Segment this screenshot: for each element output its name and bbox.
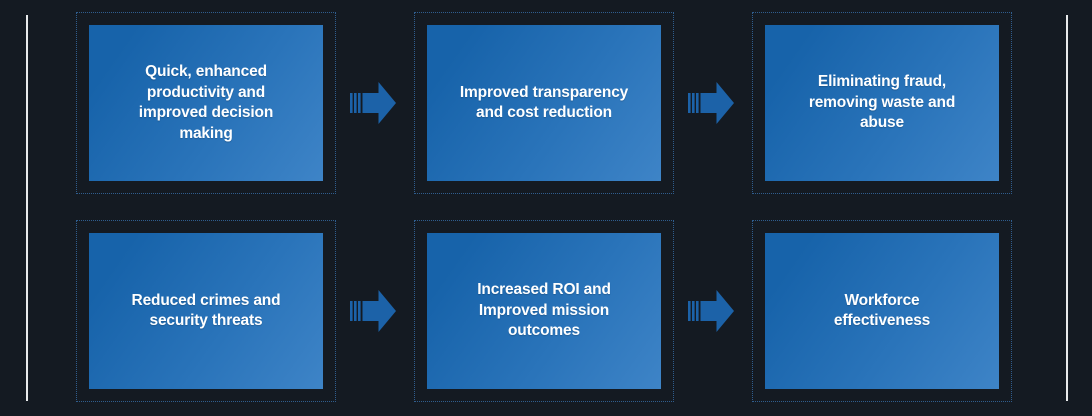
node-3-label: Eliminating fraud, removing waste and ab… (797, 72, 967, 134)
flow-grid: Quick, enhanced productivity and improve… (0, 0, 1092, 416)
arrow-right-icon (688, 82, 734, 124)
flow-node-2[interactable]: Improved transparency and cost reduction (414, 12, 674, 194)
flow-node-3[interactable]: Eliminating fraud, removing waste and ab… (752, 12, 1012, 194)
node-2-card[interactable]: Improved transparency and cost reduction (427, 25, 661, 181)
node-2-label: Improved transparency and cost reduction (448, 83, 640, 124)
connector-arrow-3 (350, 290, 396, 332)
flow-node-1[interactable]: Quick, enhanced productivity and improve… (76, 12, 336, 194)
node-4-card[interactable]: Reduced crimes and security threats (89, 233, 323, 389)
node-5-card[interactable]: Increased ROI and Improved mission outco… (427, 233, 661, 389)
node-6-card[interactable]: Workforce effectiveness (765, 233, 999, 389)
arrow-right-icon (350, 82, 396, 124)
arrow-right-icon (350, 290, 396, 332)
flow-node-5[interactable]: Increased ROI and Improved mission outco… (414, 220, 674, 402)
flow-node-6[interactable]: Workforce effectiveness (752, 220, 1012, 402)
node-4-label: Reduced crimes and security threats (120, 291, 293, 332)
node-5-label: Increased ROI and Improved mission outco… (465, 280, 623, 342)
flow-node-4[interactable]: Reduced crimes and security threats (76, 220, 336, 402)
diagram-canvas: Quick, enhanced productivity and improve… (0, 0, 1092, 416)
connector-arrow-2 (688, 82, 734, 124)
arrow-right-icon (688, 290, 734, 332)
connector-arrow-1 (350, 82, 396, 124)
node-6-label: Workforce effectiveness (822, 291, 942, 332)
node-1-label: Quick, enhanced productivity and improve… (127, 62, 285, 144)
connector-arrow-4 (688, 290, 734, 332)
node-3-card[interactable]: Eliminating fraud, removing waste and ab… (765, 25, 999, 181)
node-1-card[interactable]: Quick, enhanced productivity and improve… (89, 25, 323, 181)
